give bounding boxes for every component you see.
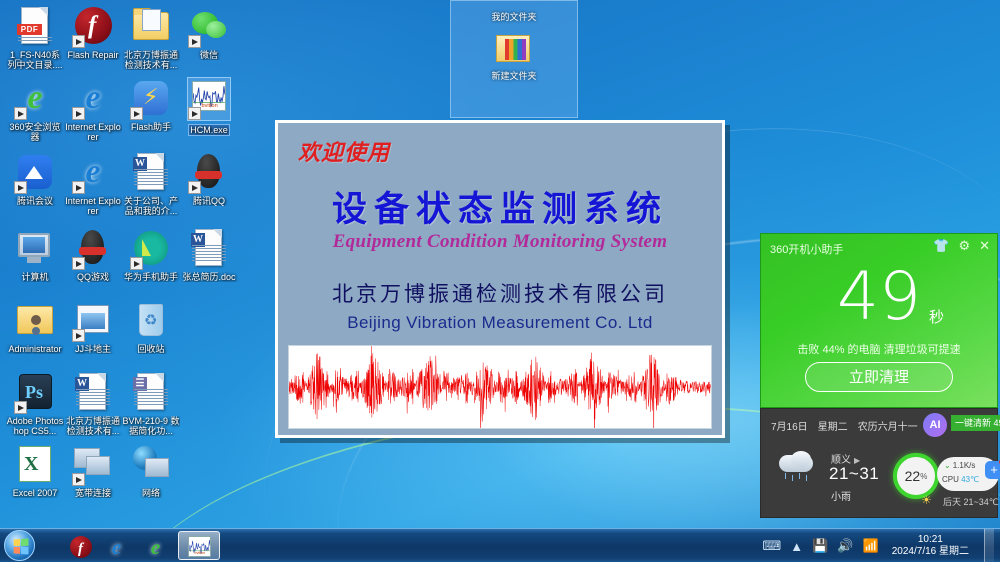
broadband-icon xyxy=(72,444,114,486)
desktop-icon-label: 360安全浏览器 xyxy=(6,122,64,142)
forecast-label: 后天 21~34℃ xyxy=(943,495,999,508)
boot-seconds-unit: 秒 xyxy=(929,306,944,327)
shortcut-arrow-icon xyxy=(72,107,85,120)
boot-assistant-title: 360开机小助手 xyxy=(770,241,843,257)
taskbar-internet-explorer[interactable]: e xyxy=(95,531,137,560)
boot-seconds-value: 49 xyxy=(761,264,997,330)
shortcut-arrow-icon xyxy=(130,257,143,270)
desktop-icon-3[interactable]: 微信 xyxy=(180,6,238,60)
desktop-icon-16[interactable]: Administrator xyxy=(6,300,64,354)
word-document-icon: W xyxy=(130,152,172,194)
internet-explorer-icon: e xyxy=(72,78,114,120)
memory-usage-unit: % xyxy=(920,472,927,481)
desktop-icon-label: 北京万博振通检测技术有... xyxy=(64,416,122,436)
memory-usage-value: 22 xyxy=(905,468,921,484)
hcm-app-icon: bvition xyxy=(188,536,211,558)
ai-badge[interactable]: AI xyxy=(923,413,947,437)
internet-explorer-icon: e xyxy=(105,536,128,558)
desktop-icon-label: JJ斗地主 xyxy=(64,344,122,354)
shirt-icon[interactable]: 👕 xyxy=(933,239,949,252)
flash-icon: f xyxy=(70,536,93,558)
weekday-label: 星期二 xyxy=(818,418,848,433)
show-desktop-button[interactable] xyxy=(984,529,994,562)
desktop-icon-label: 腾讯会议 xyxy=(6,196,64,206)
hcm-app-icon: bvition xyxy=(188,78,230,120)
boot-assistant-widget[interactable]: 360开机小助手 👕 ⚙ ✕ 49 秒 击败 44% 的电脑 清理垃圾可提速 立… xyxy=(760,233,998,408)
excel-icon xyxy=(14,444,56,486)
shortcut-arrow-icon xyxy=(130,107,143,120)
cpu-temp-value: 43℃ xyxy=(961,475,979,484)
company-name-english: Beijing Vibration Measurement Co. Ltd xyxy=(278,313,722,333)
desktop-icon-18[interactable]: 回收站 xyxy=(122,300,180,354)
volume-icon[interactable]: 🔊 xyxy=(837,538,853,554)
close-icon[interactable]: ✕ xyxy=(979,239,990,252)
one-click-clean-badge[interactable]: 一键清新 49 xyxy=(951,415,1000,431)
jj-game-icon xyxy=(72,300,114,342)
keyboard-icon[interactable]: ⌨ xyxy=(763,538,782,554)
desktop-icon-label: HCM.exe xyxy=(189,125,229,135)
desktop-icon-9[interactable]: eInternet Explorer xyxy=(64,152,122,216)
splash-window[interactable]: 欢迎使用 设备状态监测系统 Equipment Condition Monito… xyxy=(275,120,725,438)
welcome-text: 欢迎使用 xyxy=(298,135,390,167)
desktop-icon-label: 腾讯QQ xyxy=(180,196,238,206)
desktop[interactable]: PDF1_FS-N40系列中文目录....fFlash Repair北京万博振通… xyxy=(0,0,1000,562)
system-tray: ⌨ ▲ 💾 🔊 📶 10:21 2024/7/16 星期二 xyxy=(763,529,994,562)
desktop-icon-19[interactable]: Adobe Photoshop CS5... xyxy=(6,372,64,436)
network-speed-row: ⌄1.1K/s xyxy=(944,461,975,470)
desktop-icon-label: 关于公司、产品和我的介... xyxy=(122,196,180,216)
sun-icon: ☀ xyxy=(921,493,935,507)
boot-assistant-window-controls: 👕 ⚙ ✕ xyxy=(933,239,990,252)
desktop-icon-label: 回收站 xyxy=(122,344,180,354)
desktop-icon-13[interactable]: QQ游戏 xyxy=(64,228,122,282)
desktop-icon-24[interactable]: 网络 xyxy=(122,444,180,498)
network-speed-value: 1.1K/s xyxy=(953,461,976,470)
computer-icon xyxy=(14,228,56,270)
drag-ghost-title: 我的文件夹 xyxy=(451,1,577,23)
safely-remove-icon[interactable]: 💾 xyxy=(812,538,828,554)
taskbar[interactable]: feebvition ⌨ ▲ 💾 🔊 📶 10:21 2024/7/16 星期二 xyxy=(0,528,1000,562)
clean-now-button[interactable]: 立即清理 xyxy=(805,362,953,392)
desktop-icon-15[interactable]: W张总简历.doc xyxy=(180,228,238,282)
desktop-icon-12[interactable]: 计算机 xyxy=(6,228,64,282)
date-row: 7月16日 星期二 农历六月十一 xyxy=(771,418,918,433)
desktop-icon-label: Internet Explorer xyxy=(64,196,122,216)
word-document-icon: W xyxy=(188,228,230,270)
show-hidden-icons-chevron[interactable]: ▲ xyxy=(790,539,803,554)
qq-game-icon xyxy=(72,228,114,270)
svg-text:bvition: bvition xyxy=(195,551,206,555)
app-title-english: Equipment Condition Monitoring System xyxy=(278,231,722,253)
shortcut-arrow-icon xyxy=(72,181,85,194)
weather-condition: 小雨 xyxy=(831,488,851,503)
desktop-icon-20[interactable]: W北京万博振通检测技术有... xyxy=(64,372,122,436)
desktop-icon-14[interactable]: 华为手机助手 xyxy=(122,228,180,282)
desktop-icon-label: BVM-210-9 数据简化功... xyxy=(122,416,180,436)
cpu-temp-row: CPU 43℃ xyxy=(942,475,979,484)
desktop-icon-label: 1_FS-N40系列中文目录.... xyxy=(6,50,64,70)
desktop-icon-1[interactable]: fFlash Repair xyxy=(64,6,122,60)
app-title-chinese: 设备状态监测系统 xyxy=(278,181,722,232)
company-name-chinese: 北京万博振通检测技术有限公司 xyxy=(278,278,722,308)
taskbar-360-browser[interactable]: e xyxy=(134,531,176,560)
shortcut-arrow-icon xyxy=(72,257,85,270)
browser-360-icon: e xyxy=(144,536,167,558)
desktop-icon-label: 微信 xyxy=(180,50,238,60)
shortcut-arrow-icon xyxy=(188,107,201,120)
boot-assistant-subtitle: 击败 44% 的电脑 清理垃圾可提速 xyxy=(761,341,997,357)
drag-ghost-window[interactable]: 我的文件夹 新建文件夹 xyxy=(450,0,578,118)
desktop-icon-label: QQ游戏 xyxy=(64,272,122,282)
recycle-bin-icon xyxy=(130,300,172,342)
pdf-document-icon: PDF xyxy=(14,6,56,48)
network-signal-icon[interactable]: 📶 xyxy=(863,538,879,554)
vibration-waveform-chart xyxy=(288,345,712,429)
desktop-icon-21[interactable]: ☰BVM-210-9 数据简化功... xyxy=(122,372,180,436)
flash-repair-icon: f xyxy=(72,6,114,48)
clock-time: 10:21 xyxy=(892,534,969,546)
desktop-icon-label: 计算机 xyxy=(6,272,64,282)
desktop-icon-5[interactable]: eInternet Explorer xyxy=(64,78,122,142)
browser-360-icon: e xyxy=(14,78,56,120)
svg-text:bvition: bvition xyxy=(202,103,218,109)
huawei-assistant-icon xyxy=(130,228,172,270)
photoshop-icon xyxy=(14,372,56,414)
desktop-icon-label: 网络 xyxy=(122,488,180,498)
cpu-label: CPU xyxy=(942,475,959,484)
taskbar-hcm[interactable]: bvition xyxy=(178,531,220,560)
desktop-icon-7[interactable]: bvitionHCM.exe xyxy=(180,78,238,140)
document-icon: ☰ xyxy=(130,372,172,414)
shortcut-arrow-icon xyxy=(14,181,27,194)
shortcut-arrow-icon xyxy=(188,181,201,194)
word-document-icon: W xyxy=(72,372,114,414)
folder-icon xyxy=(130,6,172,48)
desktop-icon-8[interactable]: 腾讯会议 xyxy=(6,152,64,206)
internet-explorer-icon: e xyxy=(72,152,114,194)
shortcut-arrow-icon xyxy=(14,401,27,414)
desktop-icon-label: 宽带连接 xyxy=(64,488,122,498)
shortcut-arrow-icon xyxy=(72,35,85,48)
shortcut-arrow-icon xyxy=(14,107,27,120)
drag-ghost-item-label: 新建文件夹 xyxy=(451,69,577,82)
desktop-icon-label: Flash Repair xyxy=(64,50,122,60)
qq-icon xyxy=(188,152,230,194)
shortcut-arrow-icon xyxy=(72,473,85,486)
desktop-icon-label: Excel 2007 xyxy=(6,488,64,498)
desktop-icon-22[interactable]: Excel 2007 xyxy=(6,444,64,498)
desktop-icon-label: Administrator xyxy=(6,344,64,354)
folder-colored-icon xyxy=(494,32,534,66)
tencent-meeting-icon xyxy=(14,152,56,194)
lunar-date-label: 农历六月十一 xyxy=(858,418,918,433)
down-arrow-icon: ⌄ xyxy=(944,461,951,470)
desktop-icon-10[interactable]: W关于公司、产品和我的介... xyxy=(122,152,180,216)
add-widget-button[interactable]: + xyxy=(985,461,1000,479)
desktop-icon-label: Internet Explorer xyxy=(64,122,122,142)
rain-cloud-icon xyxy=(775,451,821,485)
desktop-icon-label: Adobe Photoshop CS5... xyxy=(6,416,64,436)
desktop-icon-6[interactable]: Flash助手 xyxy=(122,78,180,132)
weather-status-widget[interactable]: 7月16日 星期二 农历六月十一 AI 一键清新 49 顺义▶ 21~31 小雨… xyxy=(760,408,998,518)
gear-icon[interactable]: ⚙ xyxy=(958,239,970,252)
desktop-icon-label: 北京万博振通检测技术有... xyxy=(122,50,180,70)
desktop-icon-4[interactable]: e360安全浏览器 xyxy=(6,78,64,142)
temperature-range: 21~31 xyxy=(829,464,879,484)
taskbar-clock[interactable]: 10:21 2024/7/16 星期二 xyxy=(892,534,969,558)
desktop-icon-23[interactable]: 宽带连接 xyxy=(64,444,122,498)
desktop-icon-label: Flash助手 xyxy=(122,122,180,132)
waveform-svg xyxy=(289,346,711,428)
flash-helper-icon xyxy=(130,78,172,120)
start-button[interactable] xyxy=(4,530,35,561)
desktop-icon-17[interactable]: JJ斗地主 xyxy=(64,300,122,354)
desktop-icon-11[interactable]: 腾讯QQ xyxy=(180,152,238,206)
desktop-icon-2[interactable]: 北京万博振通检测技术有... xyxy=(122,6,180,70)
date-label: 7月16日 xyxy=(771,418,808,433)
user-folder-icon xyxy=(14,300,56,342)
shortcut-arrow-icon xyxy=(72,329,85,342)
desktop-icon-0[interactable]: PDF1_FS-N40系列中文目录.... xyxy=(6,6,64,70)
shortcut-arrow-icon xyxy=(188,35,201,48)
wechat-icon xyxy=(188,6,230,48)
clock-date: 2024/7/16 星期二 xyxy=(892,546,969,558)
desktop-icon-label: 华为手机助手 xyxy=(122,272,180,282)
desktop-icon-label: 张总简历.doc xyxy=(180,272,238,282)
network-icon xyxy=(130,444,172,486)
